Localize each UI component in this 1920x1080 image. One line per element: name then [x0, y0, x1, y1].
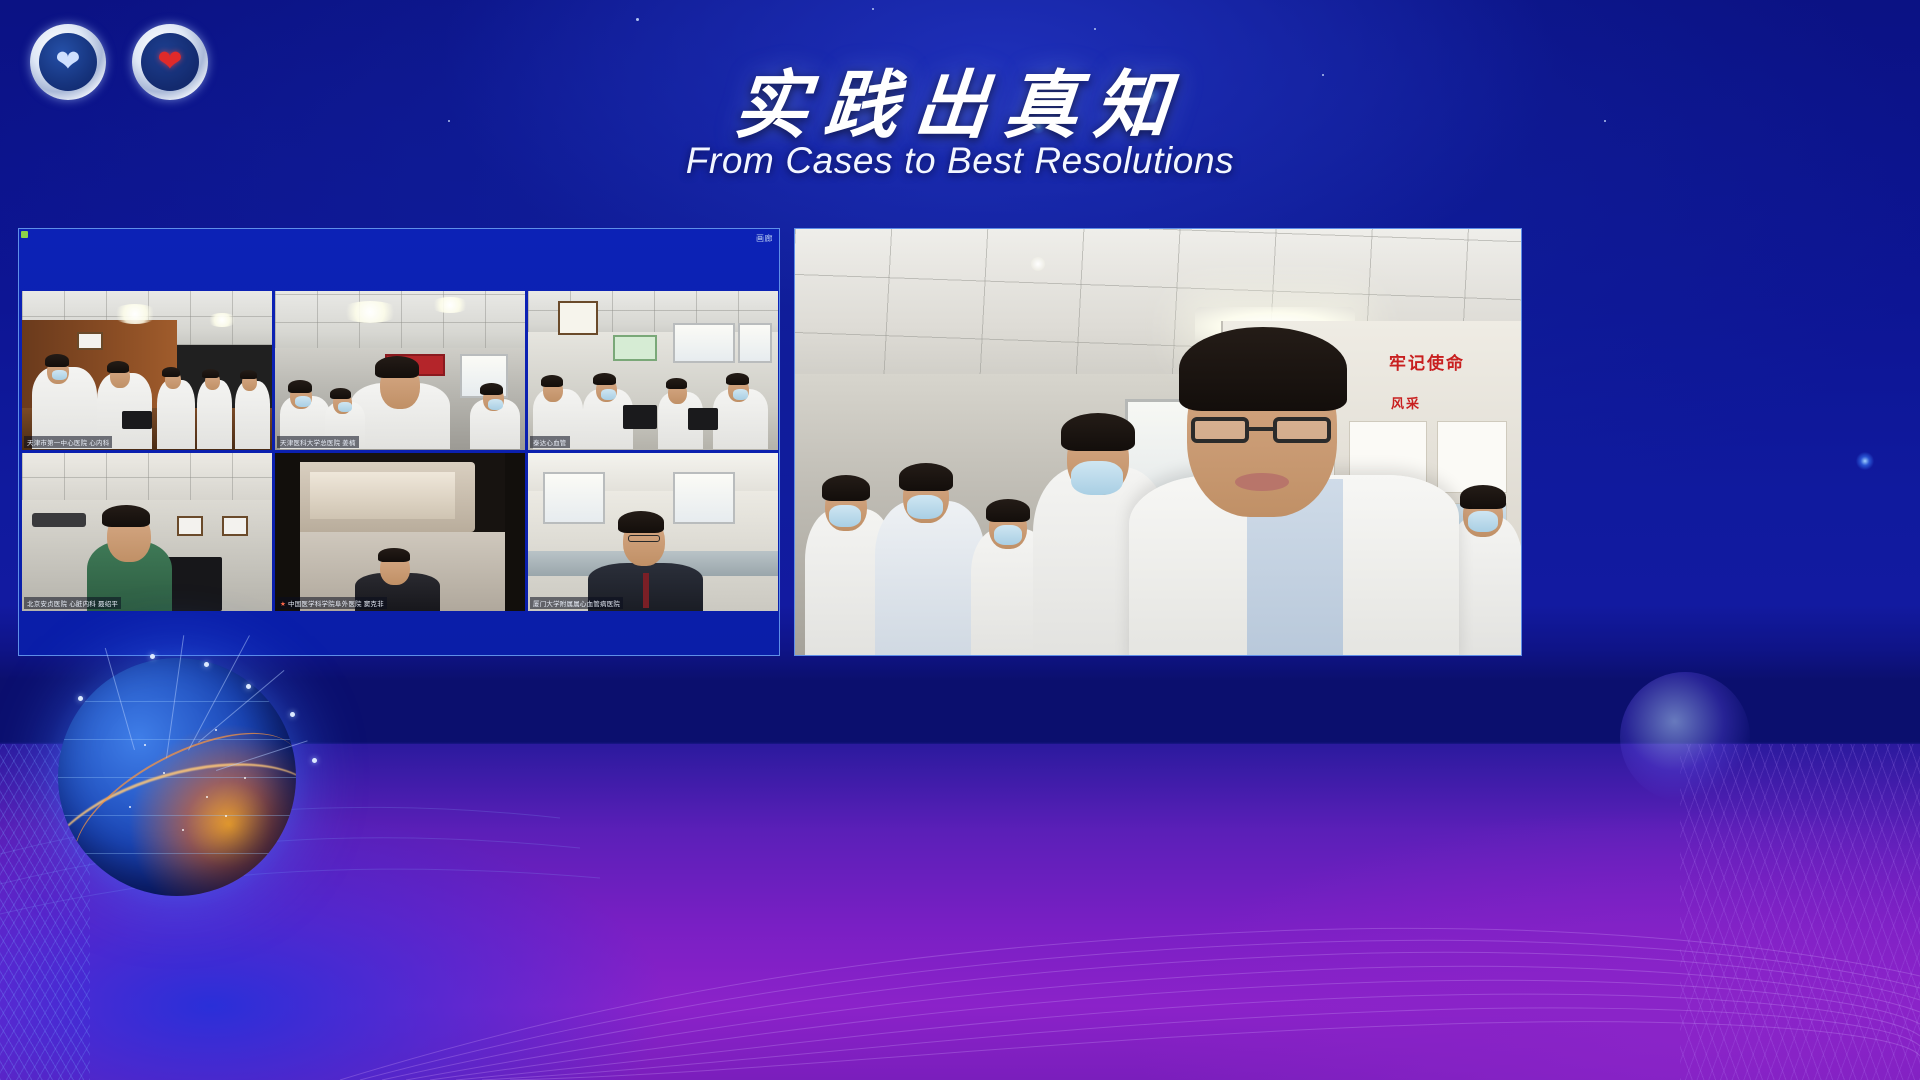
- page-title-chinese: 实践出真知: [0, 46, 1920, 153]
- poster-text: 风采: [1391, 393, 1421, 412]
- mesh-texture-right: [1680, 744, 1920, 1080]
- decorative-orb: [1620, 672, 1750, 802]
- tile-scene: [528, 291, 778, 450]
- poster-text: 牢记使命: [1389, 349, 1465, 374]
- video-tile-active[interactable]: 天津医科大学总医院 姜楠: [275, 291, 525, 450]
- video-tile-grid: 天津市第一中心医院 心内科: [22, 291, 778, 611]
- video-tile[interactable]: 天津市第一中心医院 心内科: [22, 291, 272, 450]
- main-speaker-video[interactable]: 不忘初心 牢记使命 人文园地 风采: [794, 228, 1522, 656]
- tile-caption: 泰达心血管: [530, 436, 570, 448]
- video-tile[interactable]: 泰达心血管: [528, 291, 778, 450]
- tile-caption: 厦门大学附属属心血管病医院: [530, 597, 623, 609]
- presentation-stage: ❤ ❤ 实践出真知 From Cases to Best Resolutions…: [0, 0, 1920, 1080]
- video-tile[interactable]: ★中国医学科学院阜外医院 窦克非: [275, 453, 525, 612]
- ceiling-spotlight: [1031, 257, 1045, 271]
- glow-dot: [1856, 452, 1874, 470]
- gallery-badge: 画廊: [756, 233, 773, 244]
- recording-indicator-icon: [21, 231, 28, 238]
- tile-scene: [22, 453, 272, 612]
- globe-graphic: [38, 630, 338, 880]
- video-tile[interactable]: 厦门大学附属属心血管病医院: [528, 453, 778, 612]
- pin-icon: ★: [280, 601, 286, 608]
- header: ❤ ❤ 实践出真知 From Cases to Best Resolutions: [0, 0, 1920, 230]
- tile-caption: ★中国医学科学院阜外医院 窦克非: [277, 597, 387, 609]
- tile-scene: [275, 291, 525, 450]
- poster-card: [1437, 421, 1507, 493]
- tile-scene: [528, 453, 778, 612]
- page-subtitle-english: From Cases to Best Resolutions: [0, 140, 1920, 182]
- video-tile[interactable]: 北京安贞医院 心脏内科 聂绍平: [22, 453, 272, 612]
- tile-scene: [275, 453, 525, 612]
- tile-caption: 天津医科大学总医院 姜楠: [277, 436, 359, 448]
- gallery-video-panel[interactable]: 画廊: [18, 228, 780, 656]
- tile-scene: [22, 291, 272, 450]
- globe-sphere: [58, 658, 296, 896]
- tile-caption: 北京安贞医院 心脏内科 聂绍平: [24, 597, 121, 609]
- tile-caption: 天津市第一中心医院 心内科: [24, 436, 112, 448]
